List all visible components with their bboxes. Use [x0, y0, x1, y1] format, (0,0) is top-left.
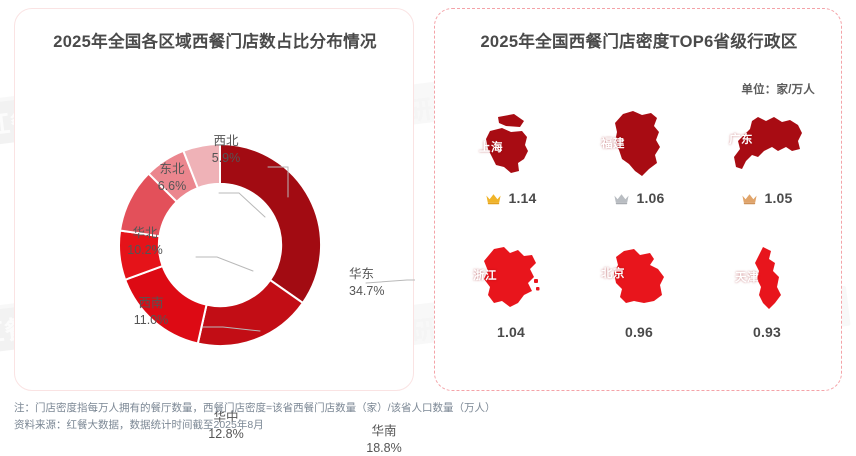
crown-gold-icon — [485, 192, 502, 205]
infographic-stage: 红餐 产业研究院 红餐 产业研究院 红餐 产业研究院 红餐 产业研究院 红餐 产… — [0, 0, 856, 447]
province-card-shanghai[interactable]: 上海 1.14 — [443, 105, 579, 206]
footnotes: 注：门店密度指每万人拥有的餐厅数量，西餐门店密度=该省西餐门店数量（家）/该省人… — [14, 400, 834, 434]
donut-label-xinan: 西南 11.0% — [111, 295, 191, 328]
value-row-guangdong: 1.05 — [699, 190, 835, 206]
regional-share-panel: 2025年全国各区域西餐门店数占比分布情况 — [14, 8, 414, 391]
donut-label-huadong-name: 华东 — [349, 266, 427, 283]
province-card-beijing[interactable]: 北京 0.96 — [571, 239, 707, 340]
province-name-guangdong: 广东 — [729, 131, 753, 147]
density-panel-title: 2025年全国西餐门店密度TOP6省级行政区 — [455, 31, 823, 54]
province-name-beijing: 北京 — [601, 265, 625, 281]
density-value-beijing: 0.96 — [625, 324, 653, 340]
donut-label-huabei: 华北 10.2% — [105, 225, 185, 258]
province-name-shanghai: 上海 — [479, 139, 503, 155]
density-value-guangdong: 1.05 — [764, 190, 792, 206]
province-card-zhejiang[interactable]: 浙江 1.04 — [443, 239, 579, 340]
province-name-tianjin: 天津 — [735, 269, 759, 285]
donut-label-dongbei-value: 6.6% — [158, 179, 187, 193]
donut-chart: 西北 5.9% 东北 6.6% 华北 10.2% 西南 11.0% 华中 12.… — [15, 105, 415, 385]
donut-label-huabei-value: 10.2% — [127, 243, 162, 257]
value-row-beijing: 0.96 — [571, 324, 707, 340]
map-shape-beijing: 北京 — [571, 239, 707, 317]
donut-label-xibei-name: 西北 — [187, 133, 265, 150]
value-row-zhejiang: 1.04 — [443, 324, 579, 340]
page-title: 2025年全国各区域西餐门店数占比分布情况 — [45, 31, 385, 54]
crown-silver-icon — [613, 192, 630, 205]
donut-label-huadong-value: 34.7% — [349, 284, 384, 298]
donut-slice-huadong — [220, 144, 321, 303]
value-row-shanghai: 1.14 — [443, 190, 579, 206]
leader-huabei — [196, 257, 253, 271]
province-grid: 上海 1.14 福建 — [435, 105, 843, 375]
density-top6-panel: 2025年全国西餐门店密度TOP6省级行政区 单位：家/万人 上海 1.14 — [434, 8, 842, 391]
province-name-fujian: 福建 — [601, 135, 625, 151]
donut-label-xinan-value: 11.0% — [134, 313, 169, 327]
density-value-fujian: 1.06 — [636, 190, 664, 206]
footnote-definition: 注：门店密度指每万人拥有的餐厅数量，西餐门店密度=该省西餐门店数量（家）/该省人… — [14, 400, 834, 417]
donut-label-dongbei-name: 东北 — [133, 161, 211, 178]
crown-bronze-icon — [741, 192, 758, 205]
map-shape-shanghai: 上海 — [443, 105, 579, 183]
donut-label-xinan-name: 西南 — [111, 295, 191, 312]
map-shape-tianjin: 天津 — [699, 239, 835, 317]
unit-label: 单位：家/万人 — [741, 81, 815, 97]
donut-label-huanan-value: 18.8% — [366, 441, 401, 455]
footnote-source: 资料来源：红餐大数据，数据统计时间截至2025年8月 — [14, 417, 834, 434]
donut-label-huabei-name: 华北 — [105, 225, 185, 242]
province-name-zhejiang: 浙江 — [473, 267, 497, 283]
province-card-guangdong[interactable]: 广东 1.05 — [699, 105, 835, 206]
density-value-tianjin: 0.93 — [753, 324, 781, 340]
donut-label-xibei-value: 5.9% — [212, 151, 241, 165]
density-value-shanghai: 1.14 — [508, 190, 536, 206]
density-value-zhejiang: 1.04 — [497, 324, 525, 340]
map-shape-fujian: 福建 — [571, 105, 707, 183]
donut-label-dongbei: 东北 6.6% — [133, 161, 211, 194]
province-card-tianjin[interactable]: 天津 0.93 — [699, 239, 835, 340]
donut-label-huadong: 华东 34.7% — [349, 266, 427, 299]
value-row-fujian: 1.06 — [571, 190, 707, 206]
value-row-tianjin: 0.93 — [699, 324, 835, 340]
map-shape-zhejiang: 浙江 — [443, 239, 579, 317]
province-card-fujian[interactable]: 福建 1.06 — [571, 105, 707, 206]
map-shape-guangdong: 广东 — [699, 105, 835, 183]
